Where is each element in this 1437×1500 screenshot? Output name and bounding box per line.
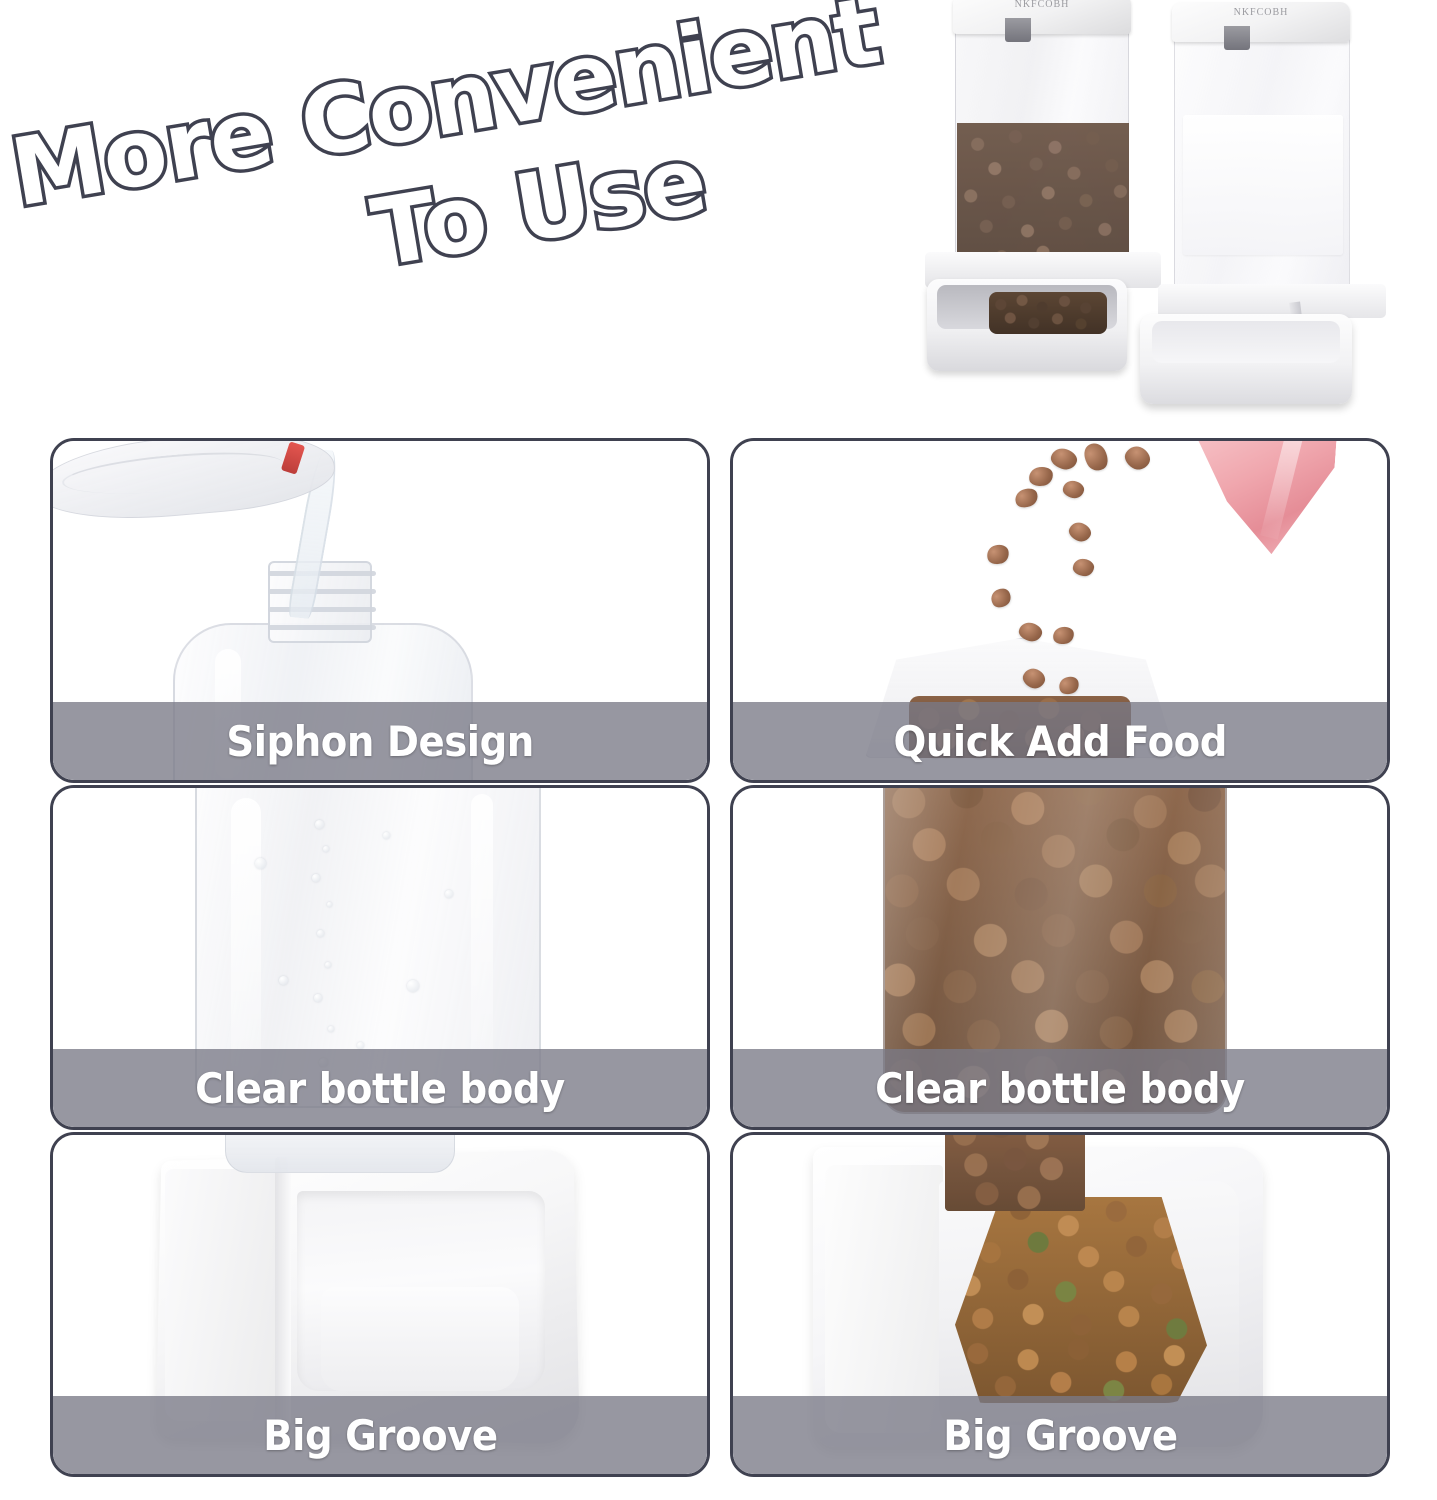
food-dispenser-unit: NKFCOBH <box>925 0 1175 394</box>
water-droplet <box>445 890 453 898</box>
falling-kibble <box>1028 465 1054 487</box>
falling-kibble <box>988 585 1014 611</box>
water-unit-base <box>1158 284 1386 318</box>
feature-card-siphon-design: Siphon Design <box>50 438 710 783</box>
bowl-kibble <box>989 292 1107 334</box>
falling-kibble <box>1049 445 1080 472</box>
water-bowl-inner <box>1152 321 1340 363</box>
feature-card-grid: Siphon Design Quick Add Food <box>50 438 1390 1478</box>
glass-highlight <box>471 794 493 1084</box>
caption-band: Big Groove <box>53 1396 707 1474</box>
falling-kibble <box>985 543 1011 567</box>
trough-divider <box>275 1157 291 1425</box>
feature-card-big-groove-food: Big Groove <box>730 1132 1390 1477</box>
base-left-wall <box>825 1165 943 1433</box>
food-bowl-inner <box>937 285 1117 329</box>
glass-highlight <box>231 798 261 1078</box>
water-droplet <box>317 930 324 937</box>
water-unit-lid: NKFCOBH <box>1172 2 1350 42</box>
water-droplet <box>407 980 419 992</box>
trough-floor <box>321 1287 519 1391</box>
caption-text: Clear bottle body <box>195 1064 565 1113</box>
caption-text: Clear bottle body <box>875 1064 1245 1113</box>
water-droplet <box>314 994 322 1002</box>
neck-thread <box>268 607 376 612</box>
feature-card-quick-add-food: Quick Add Food <box>730 438 1390 783</box>
dispensed-kibble-pile <box>955 1197 1207 1403</box>
caption-band: Big Groove <box>733 1396 1387 1474</box>
falling-kibble <box>1066 519 1093 544</box>
water-droplet <box>315 820 324 829</box>
headline-block: More Convenient To Use <box>0 0 941 459</box>
caption-band: Clear bottle body <box>733 1049 1387 1127</box>
water-reservoir-tank <box>1174 34 1350 290</box>
feature-card-big-groove-water: Big Groove <box>50 1132 710 1477</box>
falling-kibble <box>1052 625 1076 645</box>
reservoir-bottom <box>225 1135 455 1173</box>
water-droplet <box>328 1026 334 1032</box>
pink-food-bag <box>1179 441 1338 558</box>
caption-text: Siphon Design <box>226 717 533 766</box>
caption-text: Big Groove <box>263 1411 497 1460</box>
falling-kibble <box>1013 486 1041 511</box>
neck-thread <box>268 625 376 630</box>
neck-thread <box>268 589 376 594</box>
lid-latch <box>1005 18 1031 42</box>
falling-kibble <box>1061 479 1085 500</box>
falling-kibble <box>1121 442 1154 474</box>
food-bowl <box>927 279 1127 371</box>
water-droplet <box>327 902 332 907</box>
water-droplet <box>255 858 266 869</box>
lid-latch <box>1224 26 1250 50</box>
falling-kibble <box>1072 558 1095 578</box>
water-droplet <box>325 962 331 968</box>
hopper-kibble <box>945 1135 1085 1211</box>
food-unit-lid: NKFCOBH <box>953 0 1131 34</box>
water-level <box>1183 115 1343 255</box>
brand-label: NKFCOBH <box>1172 7 1350 18</box>
base-left-wall <box>165 1169 277 1421</box>
headline-line-1: More Convenient <box>0 0 902 223</box>
reservoir-outlet <box>945 1135 1085 1211</box>
caption-band: Quick Add Food <box>733 702 1387 780</box>
feature-card-clear-bottle-body-water: Clear bottle body <box>50 785 710 1130</box>
hero-product-photo: NKFCOBH NKFCOBH <box>915 0 1435 414</box>
headline-line-2: To Use <box>157 99 922 316</box>
neck-thread <box>268 571 376 576</box>
caption-text: Big Groove <box>943 1411 1177 1460</box>
caption-band: Clear bottle body <box>53 1049 707 1127</box>
caption-text: Quick Add Food <box>893 717 1226 766</box>
water-dispenser-unit: NKFCOBH <box>1140 2 1420 410</box>
water-droplet <box>312 874 320 882</box>
feature-card-clear-bottle-body-food: Clear bottle body <box>730 785 1390 1130</box>
water-droplet <box>357 1042 364 1049</box>
water-bowl <box>1140 314 1352 404</box>
water-droplet <box>279 976 288 985</box>
water-droplet <box>323 846 329 852</box>
brand-label: NKFCOBH <box>953 0 1131 10</box>
food-reservoir-tank <box>955 26 1129 276</box>
falling-kibble <box>1080 441 1113 475</box>
water-droplet <box>383 832 390 839</box>
caption-band: Siphon Design <box>53 702 707 780</box>
